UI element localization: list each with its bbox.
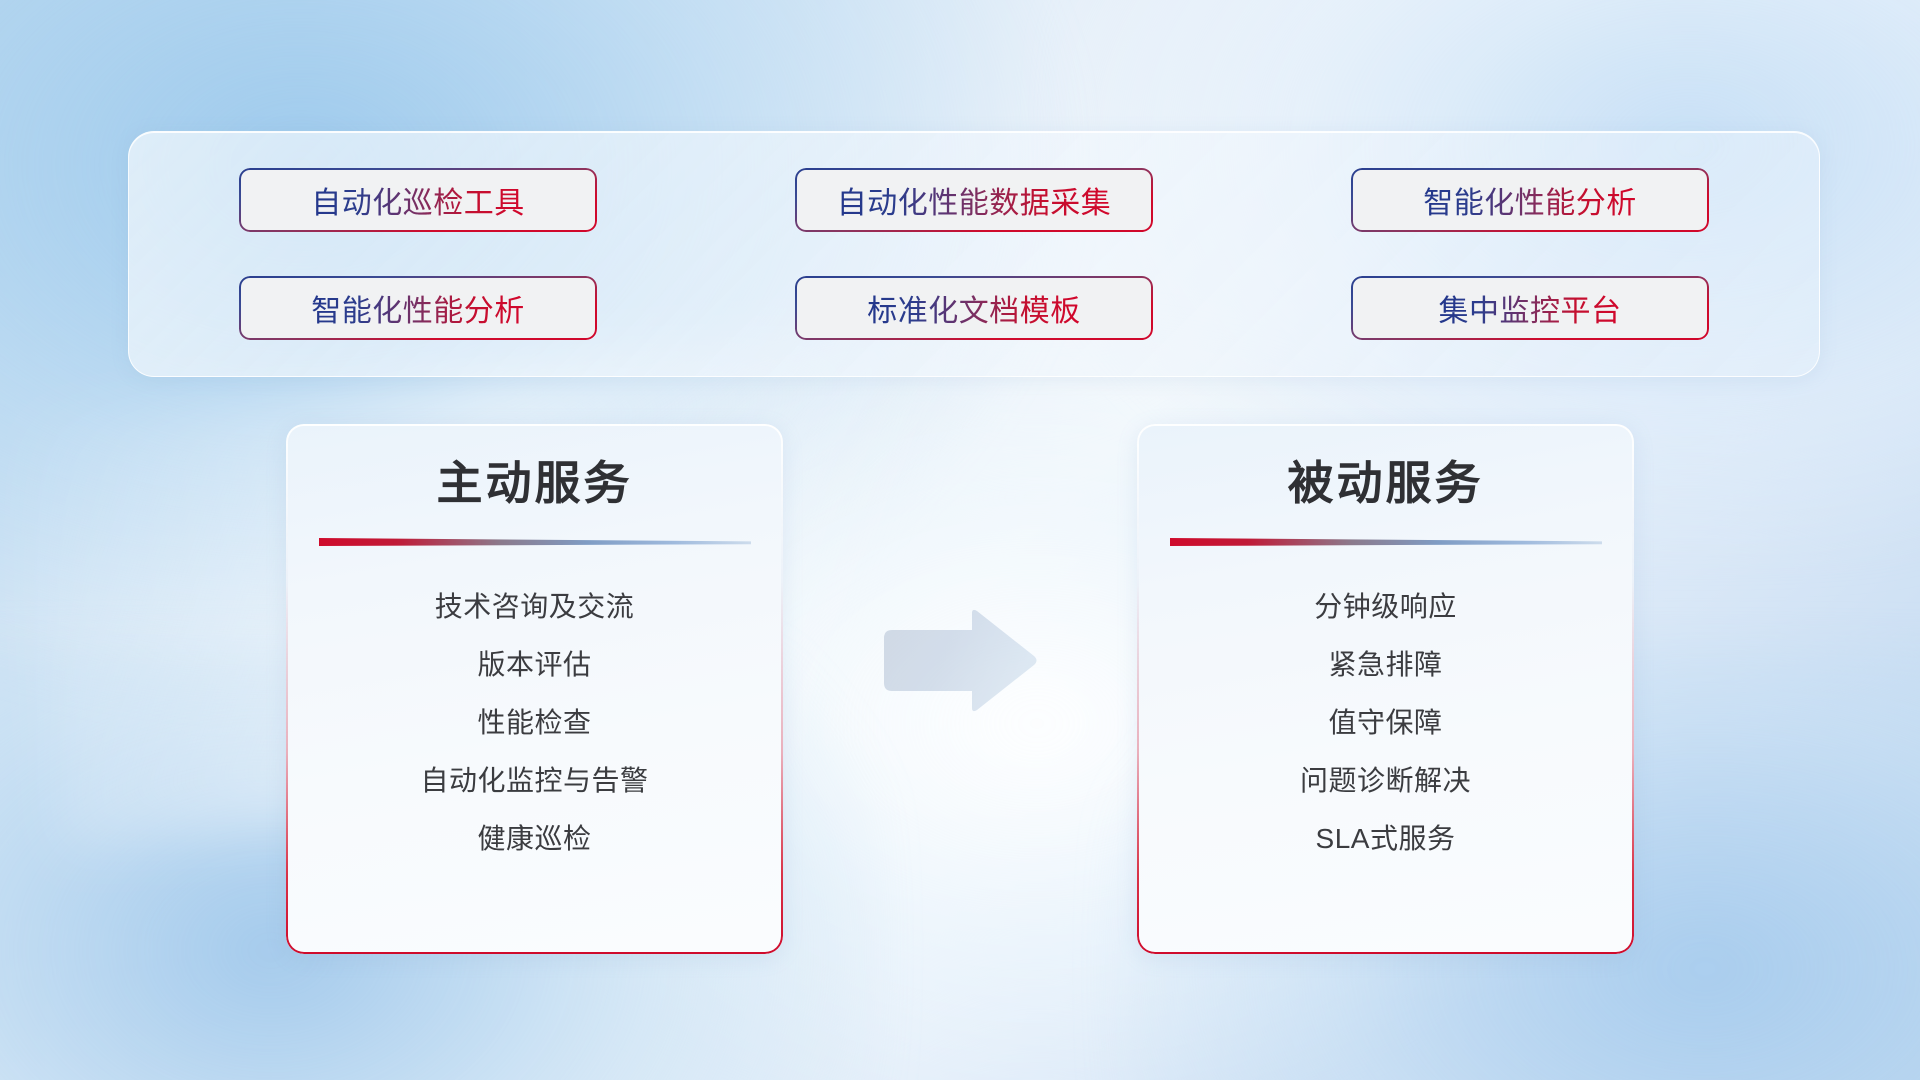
capability-pill-6[interactable]: 集中监控平台	[1351, 276, 1709, 340]
capability-pill-label: 智能化性能分析	[311, 286, 525, 330]
capability-pill-2[interactable]: 自动化性能数据采集	[795, 168, 1153, 232]
service-list-item: 值守保障	[1328, 694, 1442, 752]
title-divider-bar	[1170, 536, 1602, 548]
capability-grid: 自动化巡检工具 自动化性能数据采集 智能化性能分析 智能化性能分析 标准化文档模…	[129, 132, 1819, 376]
capability-pill-label: 自动化巡检工具	[311, 178, 525, 222]
service-card-reactive[interactable]: 被动服务 分钟级响应 紧急排障 值守保障	[1137, 424, 1634, 954]
service-list-item: 技术咨询及交流	[435, 578, 635, 636]
capability-pill-4[interactable]: 智能化性能分析	[239, 276, 597, 340]
service-card-proactive[interactable]: 主动服务 技术咨询及交流 版本评估 性能检查	[286, 424, 783, 954]
service-list-item: 健康巡检	[477, 810, 591, 868]
capability-pill-label: 标准化文档模板	[867, 286, 1081, 330]
capability-pill-label: 自动化性能数据采集	[837, 178, 1112, 222]
capability-pill-1[interactable]: 自动化巡检工具	[239, 168, 597, 232]
service-list-item: 问题诊断解决	[1300, 752, 1471, 810]
service-card-title: 被动服务	[1288, 460, 1484, 506]
service-list-item: 版本评估	[477, 636, 591, 694]
capability-pill-5[interactable]: 标准化文档模板	[795, 276, 1153, 340]
service-card-title: 主动服务	[437, 460, 633, 506]
capability-panel: 自动化巡检工具 自动化性能数据采集 智能化性能分析 智能化性能分析 标准化文档模…	[128, 131, 1820, 377]
service-list-item: SLA式服务	[1316, 810, 1456, 868]
service-list-item: 分钟级响应	[1314, 578, 1457, 636]
service-item-list: 技术咨询及交流 版本评估 性能检查 自动化监控与告警 健康巡检	[286, 578, 783, 868]
service-list-item: 自动化监控与告警	[420, 752, 648, 810]
service-list-item: 性能检查	[477, 694, 591, 752]
service-item-list: 分钟级响应 紧急排障 值守保障 问题诊断解决 SLA式服务	[1137, 578, 1634, 868]
title-divider-bar	[319, 536, 751, 548]
capability-pill-3[interactable]: 智能化性能分析	[1351, 168, 1709, 232]
arrow-right-icon	[880, 608, 1040, 713]
capability-pill-label: 智能化性能分析	[1423, 178, 1637, 222]
service-list-item: 紧急排障	[1328, 636, 1442, 694]
capability-pill-label: 集中监控平台	[1439, 286, 1622, 330]
